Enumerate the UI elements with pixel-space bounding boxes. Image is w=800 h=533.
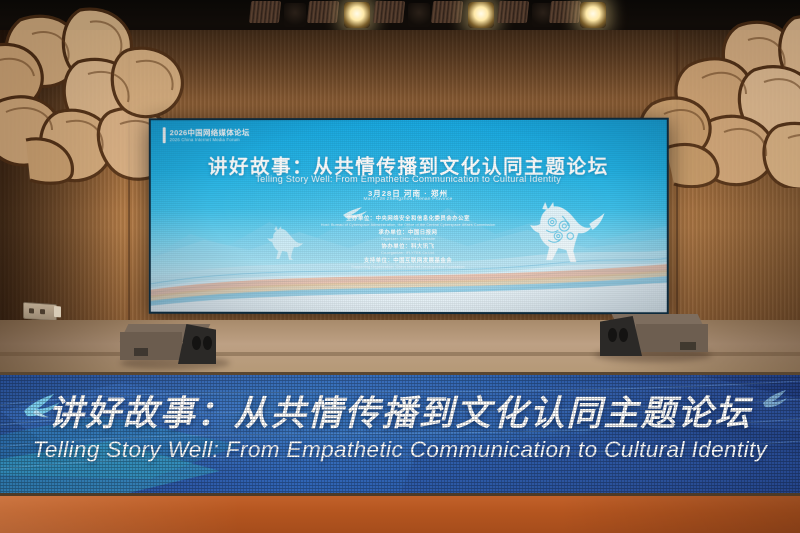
main-screen-surface: 2026中国网络媒体论坛 2026 China Internet Media F…: [151, 120, 667, 313]
speaker-driver: [608, 328, 617, 342]
stage-lamp-icon: [580, 2, 606, 28]
socket-hole: [29, 308, 34, 313]
lighting-truss: [250, 0, 590, 34]
socket-tab: [54, 306, 61, 317]
speaker-handle: [680, 342, 696, 350]
stage-lamp-off-icon: [408, 3, 430, 27]
speaker-driver: [619, 328, 628, 342]
banner-title-en: Telling Story Well: From Empathetic Comm…: [0, 437, 800, 463]
speaker-driver: [203, 336, 212, 350]
logo-bar-icon: [163, 127, 166, 143]
truss-barrel: [431, 1, 463, 23]
wall-power-socket: [23, 302, 57, 321]
speaker-side: [120, 332, 182, 360]
truss-barrel: [549, 1, 581, 23]
stage-lamp-icon: [344, 2, 370, 28]
decorative-horse-icon: [262, 226, 306, 260]
decorative-horse-icon: [518, 200, 604, 266]
speaker-handle: [134, 348, 148, 356]
logo-text: 2026中国网络媒体论坛 2026 China Internet Media F…: [170, 128, 250, 143]
logo-title-cn: 2026中国网络媒体论坛: [170, 128, 250, 137]
banner-title-cn: 讲好故事：从共情传播到文化认同主题论坛: [0, 385, 800, 436]
speaker-side: [636, 324, 708, 352]
socket-hole: [40, 309, 45, 314]
stage-monitor-speaker: [118, 318, 228, 368]
lower-led-banner: 讲好故事：从共情传播到文化认同主题论坛 Telling Story Well: …: [0, 375, 800, 495]
stage-monitor-speaker: [592, 308, 712, 360]
stage-lamp-icon: [468, 2, 494, 28]
forum-logo: 2026中国网络媒体论坛 2026 China Internet Media F…: [163, 127, 250, 143]
truss-barrel: [497, 1, 529, 23]
truss-barrel: [373, 1, 405, 23]
front-floor-sheen: [0, 496, 800, 533]
main-led-screen: 2026中国网络媒体论坛 2026 China Internet Media F…: [149, 118, 669, 315]
stage-scene: 2026中国网络媒体论坛 2026 China Internet Media F…: [0, 0, 800, 533]
truss-barrel: [307, 1, 339, 23]
speaker-driver: [192, 336, 201, 350]
screen-title-en: Telling Story Well: From Empathetic Comm…: [151, 174, 667, 184]
truss-barrel: [249, 1, 281, 23]
logo-title-en: 2026 China Internet Media Forum: [170, 137, 250, 143]
stage-lamp-off-icon: [284, 3, 306, 27]
